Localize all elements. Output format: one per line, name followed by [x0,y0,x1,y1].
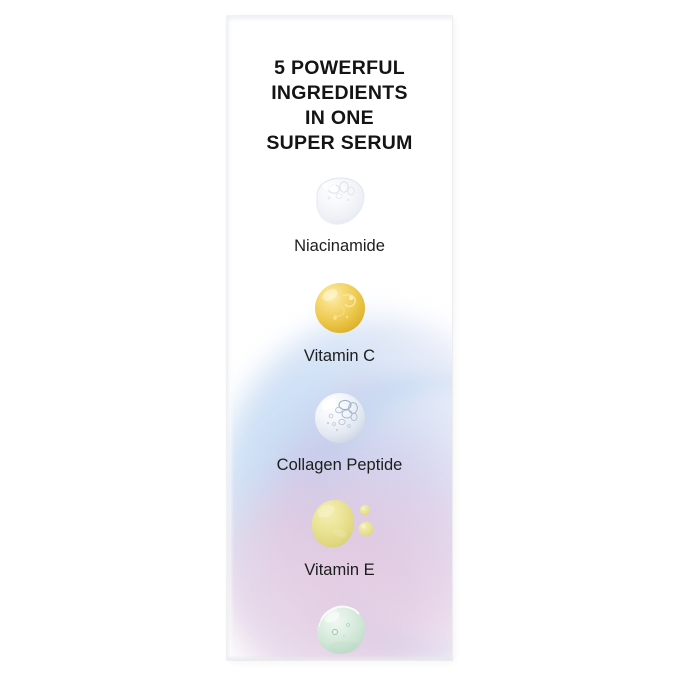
ingredient-label-vitamin-c: Vitamin C [227,346,452,366]
mint-green-teardrop-icon [308,603,372,659]
panel-top-edge-highlight [227,16,452,22]
ingredient-label-vitamin-e: Vitamin E [227,560,452,580]
golden-serum-droplet-icon [309,280,371,338]
label-line: Niacinamide [227,236,452,256]
ingredient-item-collagen-peptide: Collagen Peptide [227,390,452,475]
label-line: Vitamin E [227,560,452,580]
serum-carton-panel: 5 POWERFUL INGREDIENTS IN ONE SUPER SERU… [227,16,452,660]
clear-serum-droplet-icon [303,174,377,228]
headline: 5 POWERFUL INGREDIENTS IN ONE SUPER SERU… [227,56,452,156]
ingredient-label-collagen-peptide: Collagen Peptide [227,455,452,475]
bubbly-blue-droplet-icon [309,390,371,448]
ingredient-item-vitamin-e: Vitamin E [227,497,452,580]
ingredient-item-vitamin-c: Vitamin C [227,280,452,366]
pale-yellow-oil-droplet-icon [302,497,378,553]
headline-line-4: SUPER SERUM [227,131,452,156]
product-image-canvas: 5 POWERFUL INGREDIENTS IN ONE SUPER SERU… [0,0,679,679]
ingredient-list: Niacinamide [227,174,452,660]
label-line: Collagen Peptide [227,455,452,475]
ingredient-item-niacinamide: Niacinamide [227,174,452,256]
headline-line-2: INGREDIENTS [227,81,452,106]
ingredient-item-alpha-hydroxy-acid: Alpha Hydroxy Acid (AHA) [227,603,452,660]
label-line: Vitamin C [227,346,452,366]
headline-line-1: 5 POWERFUL [227,56,452,81]
ingredient-label-niacinamide: Niacinamide [227,236,452,256]
headline-line-3: IN ONE [227,106,452,131]
